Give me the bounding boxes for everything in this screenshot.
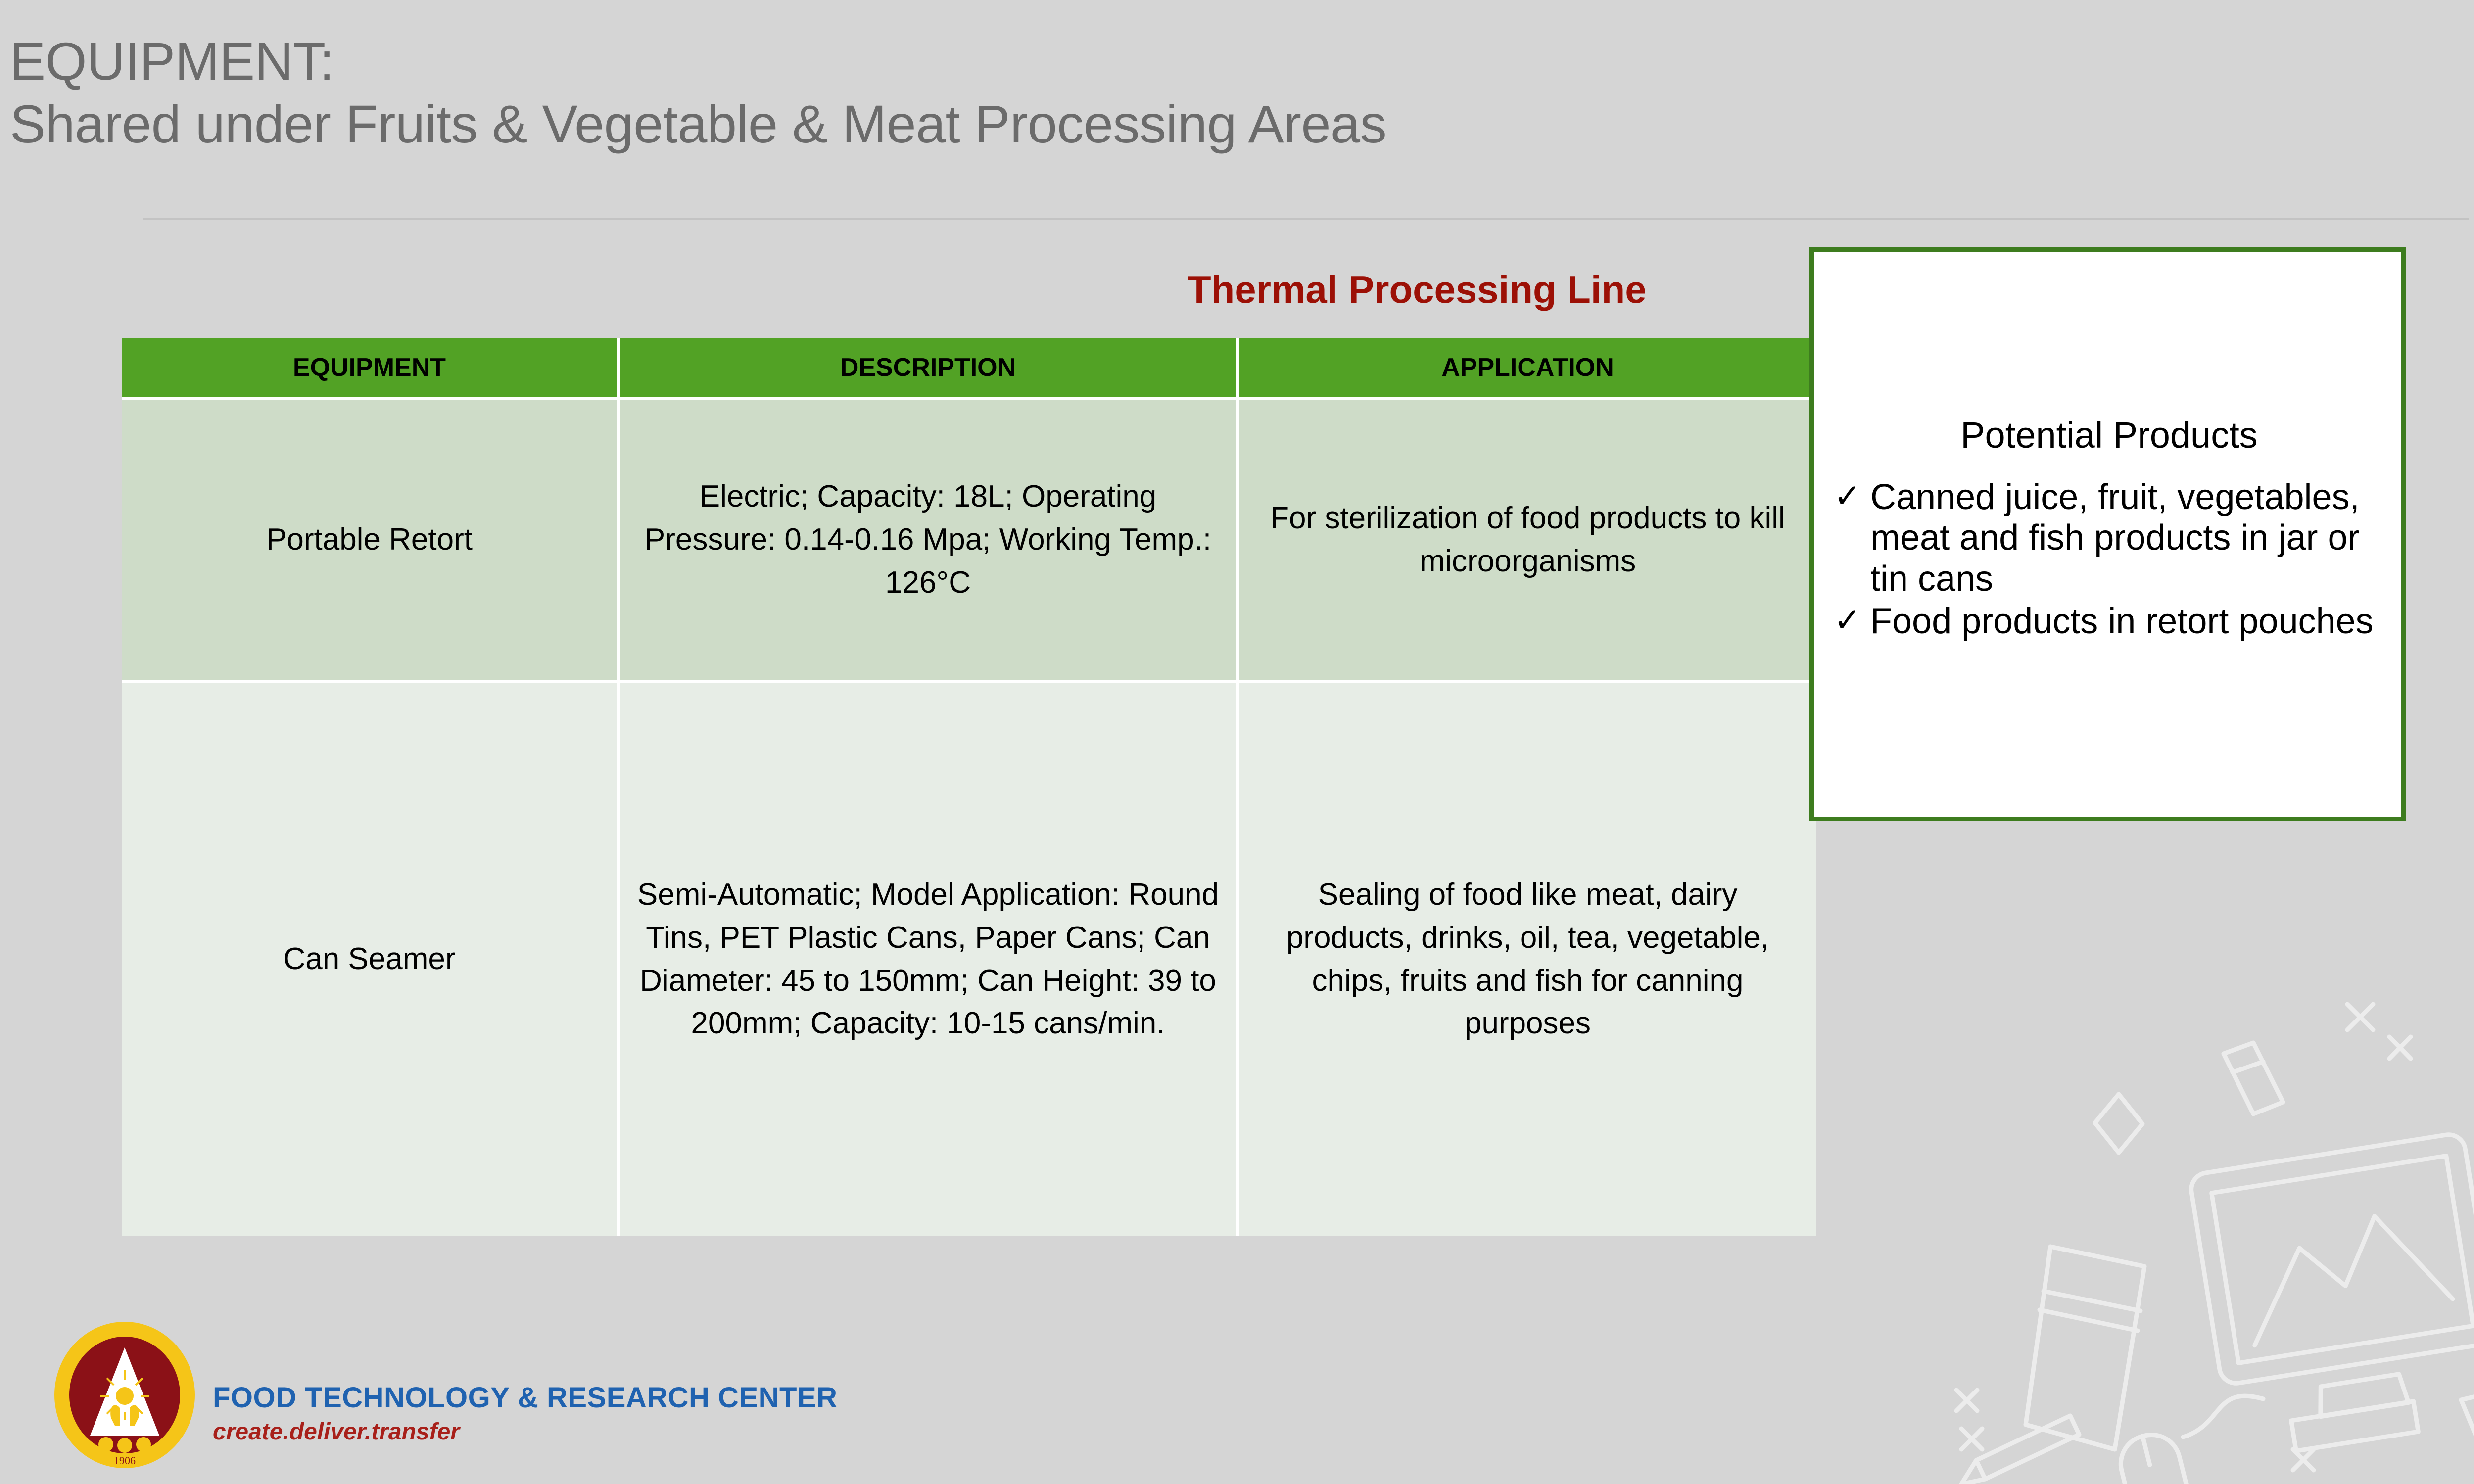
cell-equipment: Portable Retort [122,398,618,682]
list-item-label: Canned juice, fruit, vegetables, meat an… [1870,477,2384,599]
logo-year: 1906 [114,1454,136,1467]
potential-products-panel: Potential Products ✓ Canned juice, fruit… [1809,247,2406,821]
list-item: ✓ Canned juice, fruit, vegetables, meat … [1834,477,2384,599]
column-header-description: DESCRIPTION [618,338,1237,398]
potential-products-title: Potential Products [1834,415,2384,455]
check-icon: ✓ [1834,601,1870,640]
list-item-label: Food products in retort pouches [1870,601,2384,642]
title-line-1: EQUIPMENT: [10,30,2088,93]
section-heading: Thermal Processing Line [1188,267,1647,312]
slide-canvas: EQUIPMENT: Shared under Fruits & Vegetab… [0,0,2474,1484]
column-header-application: APPLICATION [1237,338,1816,398]
table-header-row: EQUIPMENT DESCRIPTION APPLICATION [122,338,1816,398]
check-icon: ✓ [1834,477,1870,515]
cell-application: Sealing of food like meat, dairy product… [1237,682,1816,1236]
title-line-2: Shared under Fruits & Vegetable & Meat P… [10,93,2088,155]
cell-equipment: Can Seamer [122,682,618,1236]
organization-name: FOOD TECHNOLOGY & RESEARCH CENTER [213,1381,838,1414]
university-seal-logo: 1906 [53,1321,196,1469]
cell-application: For sterilization of food products to ki… [1237,398,1816,682]
slide-footer: 1906 FOOD TECHNOLOGY & RESEARCH CENTER c… [0,1321,2474,1484]
cell-description: Semi-Automatic; Model Application: Round… [618,682,1237,1236]
page-title: EQUIPMENT: Shared under Fruits & Vegetab… [10,30,2088,156]
table-row: Portable Retort Electric; Capacity: 18L;… [122,398,1816,682]
footer-text-block: FOOD TECHNOLOGY & RESEARCH CENTER create… [213,1381,838,1445]
cell-description: Electric; Capacity: 18L; Operating Press… [618,398,1237,682]
column-header-equipment: EQUIPMENT [122,338,618,398]
title-divider [143,218,2469,220]
potential-products-list: ✓ Canned juice, fruit, vegetables, meat … [1834,477,2384,643]
organization-tagline: create.deliver.transfer [213,1418,838,1445]
equipment-table: EQUIPMENT DESCRIPTION APPLICATION Portab… [122,338,1816,1236]
list-item: ✓ Food products in retort pouches [1834,601,2384,642]
table-row: Can Seamer Semi-Automatic; Model Applica… [122,682,1816,1236]
